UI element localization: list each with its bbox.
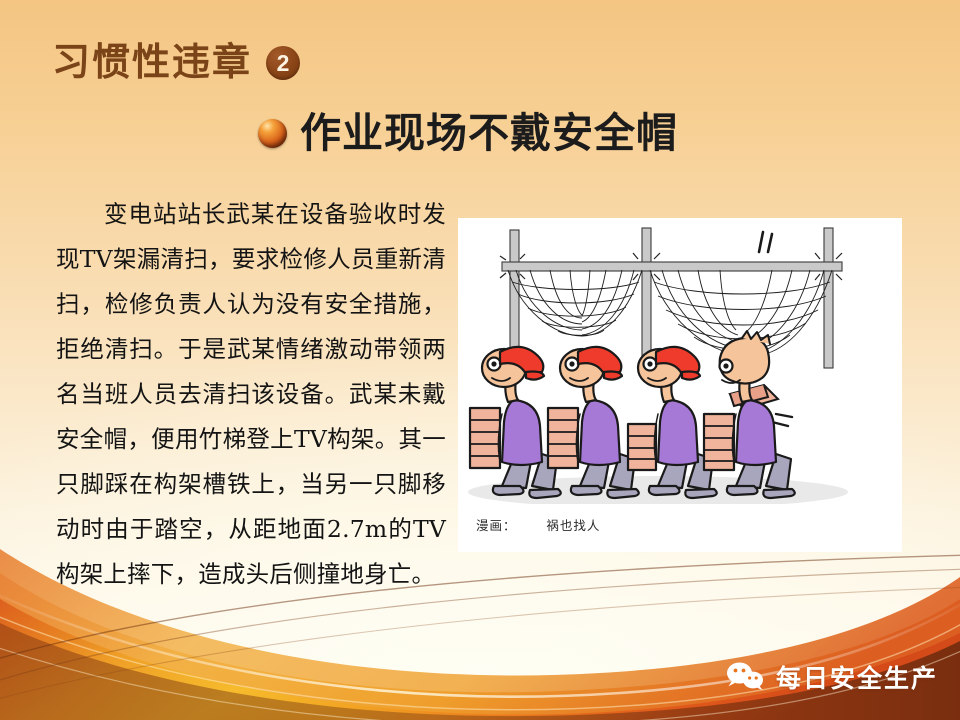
orb-bullet-icon: [258, 119, 287, 148]
section-kicker: 习惯性违章 2: [52, 44, 300, 82]
brand-name: 每日安全生产: [776, 666, 938, 691]
section-number-badge: 2: [266, 46, 300, 80]
footer-brand: 每日安全生产: [725, 661, 938, 696]
slide-title-row: 作业现场不戴安全帽: [258, 113, 678, 154]
page-title: 作业现场不戴安全帽: [300, 113, 678, 154]
kicker-label: 习惯性违章: [52, 44, 252, 82]
slide-canvas: 习惯性违章 2 作业现场不戴安全帽 变电站站长武某在设备验收时发现TV架漏清扫，…: [0, 0, 960, 720]
scaffold-beam: [502, 262, 842, 271]
wechat-icon: [725, 661, 765, 696]
